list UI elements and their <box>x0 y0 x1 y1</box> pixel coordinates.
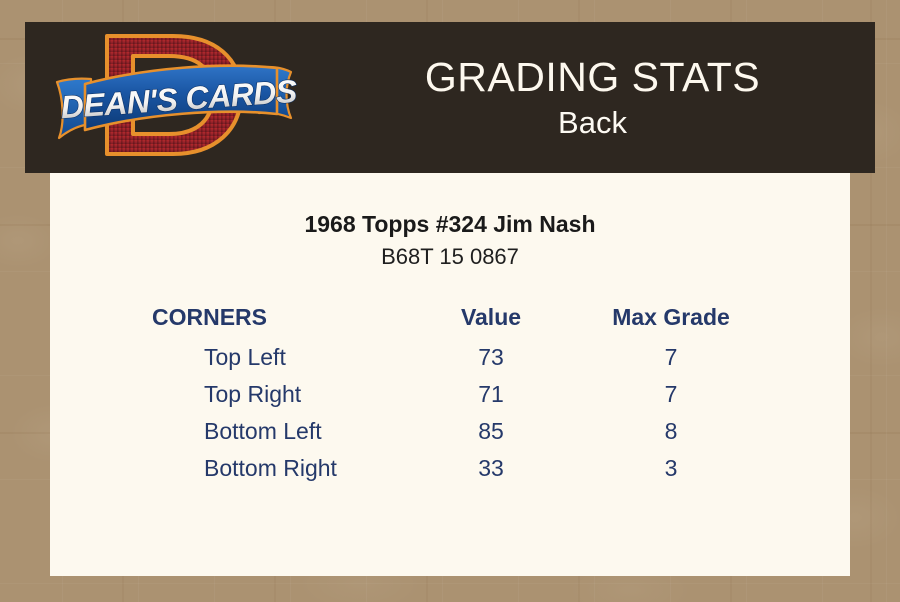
row-value: 73 <box>406 339 576 376</box>
row-label: Bottom Right <box>146 450 406 487</box>
header-bar: DEAN'S CARDS GRADING STATS Back <box>25 22 875 173</box>
content-panel: 1968 Topps #324 Jim Nash B68T 15 0867 CO… <box>50 173 850 576</box>
page-title: GRADING STATS <box>425 53 760 101</box>
row-label: Bottom Left <box>146 413 406 450</box>
row-max-grade: 7 <box>576 339 766 376</box>
row-value: 85 <box>406 413 576 450</box>
row-label: Top Left <box>146 339 406 376</box>
table-header-row: CORNERS Value Max Grade <box>146 304 766 339</box>
card-title: 1968 Topps #324 Jim Nash <box>50 173 850 238</box>
table-header: CORNERS Value Max Grade <box>146 304 766 339</box>
table-row: Top Left 73 7 <box>146 339 766 376</box>
row-max-grade: 3 <box>576 450 766 487</box>
logo-banner: DEAN'S CARDS <box>60 66 299 130</box>
column-header-value: Value <box>406 304 576 339</box>
card-serial-number: B68T 15 0867 <box>50 242 850 272</box>
row-max-grade: 7 <box>576 376 766 413</box>
row-max-grade: 8 <box>576 413 766 450</box>
table-row: Bottom Left 85 8 <box>146 413 766 450</box>
grading-stats-table: CORNERS Value Max Grade Top Left 73 7 To… <box>146 304 766 487</box>
deans-cards-logo: DEAN'S CARDS <box>45 24 310 172</box>
column-header-max-grade: Max Grade <box>576 304 766 339</box>
table-body: Top Left 73 7 Top Right 71 7 Bottom Left… <box>146 339 766 487</box>
table-row: Bottom Right 33 3 <box>146 450 766 487</box>
column-header-group: CORNERS <box>146 304 406 339</box>
row-value: 33 <box>406 450 576 487</box>
table-row: Top Right 71 7 <box>146 376 766 413</box>
logo-artwork: DEAN'S CARDS <box>45 24 310 172</box>
page-subtitle: Back <box>558 103 627 143</box>
row-label: Top Right <box>146 376 406 413</box>
row-value: 71 <box>406 376 576 413</box>
header-title-block: GRADING STATS Back <box>310 22 875 173</box>
